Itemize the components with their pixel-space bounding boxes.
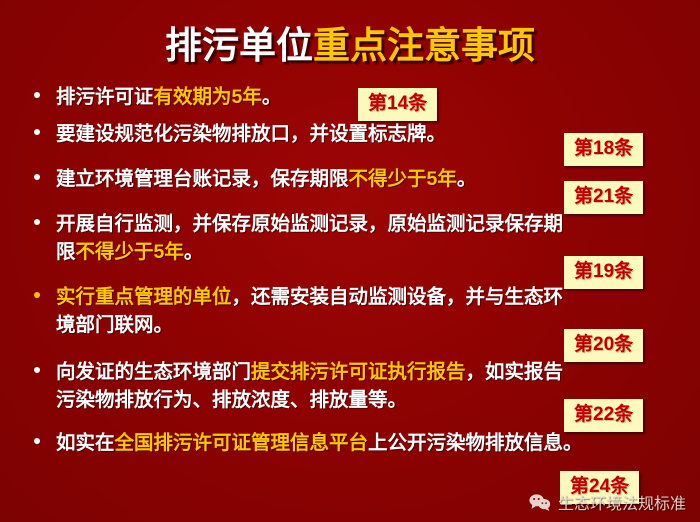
list-item: 排污许可证有效期为5年。 (22, 83, 684, 119)
bullet-dot-icon (34, 438, 40, 444)
bullet-dot-icon (34, 174, 40, 180)
text-run: 开展自行监测，并保存原始监测记录，原始监测记录保存期 (56, 213, 563, 235)
article-badge-22: 第22条 (564, 399, 643, 432)
text-run: 境部门联网。 (56, 314, 173, 336)
text-run: 建立环境管理台账记录，保存期限 (56, 168, 349, 190)
text-run: 如实在 (56, 432, 115, 454)
article-badge-18: 第18条 (564, 133, 643, 166)
text-run: 要建设规范化污染物排放口，并设置标志牌。 (56, 123, 446, 145)
text-run: 污染物排放行为、排放浓度、排放量等。 (56, 389, 407, 411)
article-badge-21: 第21条 (564, 181, 643, 214)
text-run: 排污许可证 (56, 86, 154, 108)
bullet-dot-icon (34, 292, 40, 298)
slide-canvas: 排污单位重点注意事项 排污许可证有效期为5年。 要建设规范化污染物排放口，并设置… (0, 0, 700, 522)
list-item-line: 如实在全国排污许可证管理信息平台上公开污染物排放信息。 (56, 429, 684, 457)
text-run: 。 (184, 241, 204, 263)
watermark: 生态环境法规标准 (529, 490, 686, 514)
text-run-highlight: 不得少于5年 (349, 168, 457, 190)
text-run-highlight: 全国排污许可证管理信息平台 (115, 432, 369, 454)
list-item: 如实在全国排污许可证管理信息平台上公开污染物排放信息。 (22, 429, 684, 469)
wechat-icon (529, 493, 551, 511)
bullet-dot-icon (34, 367, 40, 373)
article-badge-19: 第19条 (564, 256, 643, 289)
bullet-dot-icon (34, 92, 40, 98)
bullet-dot-icon (34, 219, 40, 225)
article-badge-14: 第14条 (358, 88, 437, 121)
page-title: 排污单位重点注意事项 (0, 27, 700, 66)
page-title-gold-part: 重点注意事项 (313, 25, 535, 66)
text-run: 限 (56, 241, 76, 263)
page-title-white-part: 排污单位 (165, 25, 313, 66)
text-run-highlight: 提交排污许可证执行报告 (251, 361, 466, 383)
text-run: ，还需安装自动监测设备，并与生态环 (232, 286, 564, 308)
watermark-label: 生态环境法规标准 (558, 490, 686, 514)
text-run: 上公开污染物排放信息。 (368, 432, 583, 454)
text-run: 。 (262, 86, 282, 108)
list-item-line: 开展自行监测，并保存原始监测记录，原始监测记录保存期 (56, 210, 684, 238)
bullet-dot-icon (34, 129, 40, 135)
article-badge-20: 第20条 (564, 329, 643, 362)
text-run: ，如实报告 (466, 361, 564, 383)
text-run-highlight: 有效期为5年 (154, 86, 262, 108)
list-item-line: 向发证的生态环境部门提交排污许可证执行报告，如实报告 (56, 358, 684, 386)
text-run: 向发证的生态环境部门 (56, 361, 251, 383)
text-run-highlight: 实行重点管理的单位 (56, 286, 232, 308)
text-run-highlight: 不得少于5年 (76, 241, 184, 263)
text-run: 。 (457, 168, 477, 190)
